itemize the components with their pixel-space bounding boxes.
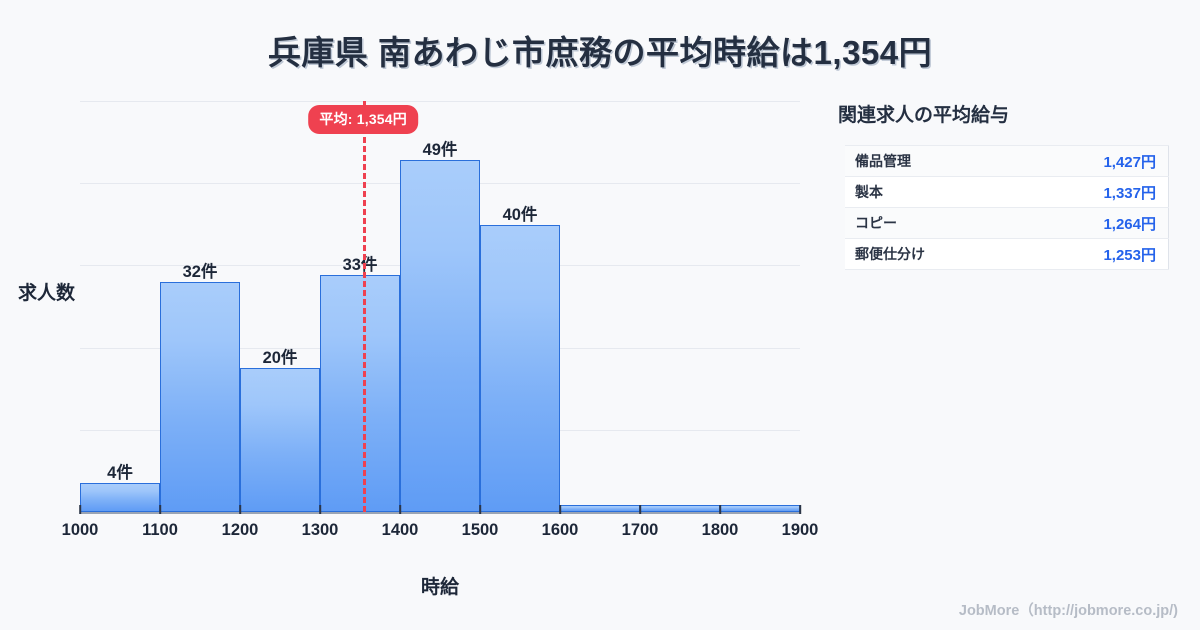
bar-value-label: 40件: [503, 201, 538, 225]
x-axis-tick-label: 1100: [142, 521, 178, 540]
page-title: 兵庫県 南あわじ市庶務の平均時給は1,354円: [0, 26, 1200, 74]
bar: [720, 505, 800, 512]
bar: [320, 275, 400, 512]
x-axis-tick-mark: [159, 505, 161, 514]
y-axis-title: 求人数: [18, 278, 75, 305]
bar-value-label: 33件: [343, 251, 378, 275]
job-category-name: 郵便仕分け: [845, 239, 1022, 270]
chart-plot-area: [80, 101, 800, 512]
x-axis-tick-mark: [319, 505, 321, 514]
x-axis-tick-label: 1200: [222, 521, 259, 540]
x-axis-tick-mark: [399, 505, 401, 514]
x-axis-tick-mark: [639, 505, 641, 514]
table-row[interactable]: 製本1,337円: [845, 177, 1169, 208]
related-jobs-panel: 関連求人の平均給与 備品管理1,427円製本1,337円コピー1,264円郵便仕…: [838, 100, 1168, 270]
x-axis-line: [80, 512, 800, 514]
average-wage-badge: 平均: 1,354円: [308, 105, 418, 134]
bar: [480, 225, 560, 512]
x-axis-tick-label: 1300: [302, 521, 339, 540]
x-axis-tick-mark: [239, 505, 241, 514]
table-row[interactable]: 備品管理1,427円: [845, 146, 1169, 177]
bar: [400, 160, 480, 512]
average-wage-line: [363, 101, 366, 512]
x-axis-title: 時給: [80, 572, 800, 599]
bar: [560, 505, 640, 512]
x-axis-tick-mark: [799, 505, 801, 514]
footer-watermark: JobMore（http://jobmore.co.jp/): [959, 599, 1178, 620]
bar: [80, 483, 160, 512]
x-axis-tick-label: 1800: [702, 521, 739, 540]
x-axis-tick-mark: [479, 505, 481, 514]
bar-value-label: 49件: [423, 136, 458, 160]
bar: [240, 368, 320, 512]
x-axis-tick-label: 1600: [542, 521, 579, 540]
bar-value-label: 32件: [183, 258, 218, 282]
x-axis-tick-mark: [79, 505, 81, 514]
job-average-wage: 1,264円: [1022, 208, 1169, 239]
x-axis-tick-label: 1400: [382, 521, 419, 540]
bar: [640, 505, 720, 512]
bar-value-label: 20件: [263, 344, 298, 368]
bar-value-label: 4件: [107, 459, 133, 483]
x-axis-tick-mark: [559, 505, 561, 514]
job-average-wage: 1,427円: [1022, 146, 1169, 177]
job-average-wage: 1,253円: [1022, 239, 1169, 270]
job-category-name: 備品管理: [845, 146, 1022, 177]
x-axis-tick-label: 1000: [62, 521, 99, 540]
related-jobs-title: 関連求人の平均給与: [838, 100, 1168, 127]
job-average-wage: 1,337円: [1022, 177, 1169, 208]
related-jobs-table: 備品管理1,427円製本1,337円コピー1,264円郵便仕分け1,253円: [845, 145, 1169, 270]
table-row[interactable]: コピー1,264円: [845, 208, 1169, 239]
x-axis-tick-mark: [719, 505, 721, 514]
x-axis-tick-label: 1900: [782, 521, 819, 540]
job-category-name: 製本: [845, 177, 1022, 208]
job-category-name: コピー: [845, 208, 1022, 239]
gridline: [80, 101, 800, 102]
x-axis-tick-label: 1500: [462, 521, 499, 540]
x-axis-tick-label: 1700: [622, 521, 659, 540]
table-row[interactable]: 郵便仕分け1,253円: [845, 239, 1169, 270]
bar: [160, 282, 240, 512]
